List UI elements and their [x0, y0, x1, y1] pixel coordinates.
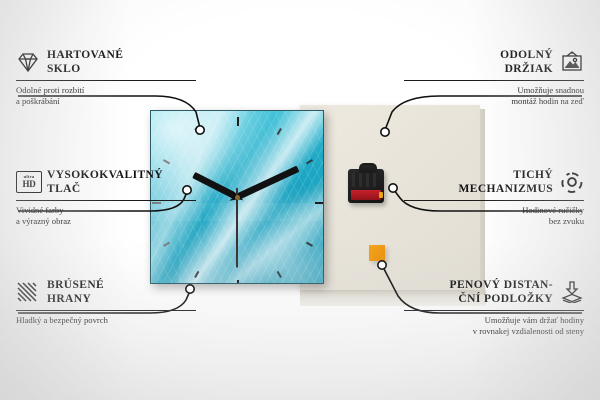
feature-title-line1: BRÚSENÉ	[47, 278, 104, 292]
divider	[16, 310, 196, 311]
ultra-hd-icon: ultra HD	[16, 171, 40, 193]
feature-desc-line1: Umožňuje vám držať hodiny	[404, 315, 584, 326]
product-infographic: HARTOVANÉ SKLO Odolné proti rozbití a po…	[0, 0, 600, 400]
feature-title-line1: HARTOVANÉ	[47, 48, 123, 62]
gear-icon	[560, 171, 584, 193]
node-holder	[381, 128, 389, 136]
feature-desc-line2: a poškrábání	[16, 96, 196, 107]
feature-desc-line2: bez zvuku	[404, 216, 584, 227]
feature-title-line1: ODOLNÝ	[500, 48, 553, 62]
feature-title-line2: HRANY	[47, 292, 104, 306]
node-glass	[196, 126, 204, 134]
feature-durable-holder: ODOLNÝ DRŽIAK Umožňuje snadnou montáž ho…	[404, 48, 584, 107]
picture-frame-icon	[560, 51, 584, 73]
node-foam	[378, 261, 386, 269]
divider	[16, 200, 196, 201]
node-mech	[389, 184, 397, 192]
divider	[404, 310, 584, 311]
feature-silent-mechanism: TICHÝ MECHANIZMUS Hodinové ručičky bez z…	[404, 168, 584, 227]
feature-title-line2: DRŽIAK	[500, 62, 553, 76]
arrow-onto-layers-icon	[560, 281, 584, 303]
feature-desc-line2: montáž hodin na zeď	[404, 96, 584, 107]
feature-title-line1: VYSOKOKVALITNÝ	[47, 168, 163, 182]
feature-desc-line1: Hladký a bezpečný povrch	[16, 315, 196, 326]
feature-desc-line1: Odolné proti rozbití	[16, 85, 196, 96]
feature-desc-line1: Umožňuje snadnou	[404, 85, 584, 96]
feature-title-line2: SKLO	[47, 62, 123, 76]
feature-hardened-glass: HARTOVANÉ SKLO Odolné proti rozbití a po…	[16, 48, 196, 107]
feature-desc-line2: v rovnakej vzdialenosti od steny	[404, 326, 584, 337]
feature-ground-edges: BRÚSENÉ HRANY Hladký a bezpečný povrch	[16, 278, 196, 326]
feature-desc-line1: Vividné farby	[16, 205, 196, 216]
feature-desc-line1: Hodinové ručičky	[404, 205, 584, 216]
feature-foam-spacers: PENOVÝ DISTAN- ČNÍ PODLOŽKY Umožňuje vám…	[404, 278, 584, 337]
feature-high-quality-print: ultra HD VYSOKOKVALITNÝ TLAČ Vividné far…	[16, 168, 196, 227]
diamond-icon	[16, 51, 40, 73]
hd-label: HD	[22, 180, 35, 189]
feature-desc-line2: a výrazný obraz	[16, 216, 196, 227]
divider	[404, 80, 584, 81]
feature-title-line2: TLAČ	[47, 182, 163, 196]
feature-title-line2: MECHANIZMUS	[459, 182, 554, 196]
divider	[16, 80, 196, 81]
feature-title-line1: TICHÝ	[459, 168, 554, 182]
divider	[404, 200, 584, 201]
feature-title-line1: PENOVÝ DISTAN-	[450, 278, 553, 292]
hatched-edge-icon	[16, 281, 40, 303]
feature-title-line2: ČNÍ PODLOŽKY	[450, 292, 553, 306]
